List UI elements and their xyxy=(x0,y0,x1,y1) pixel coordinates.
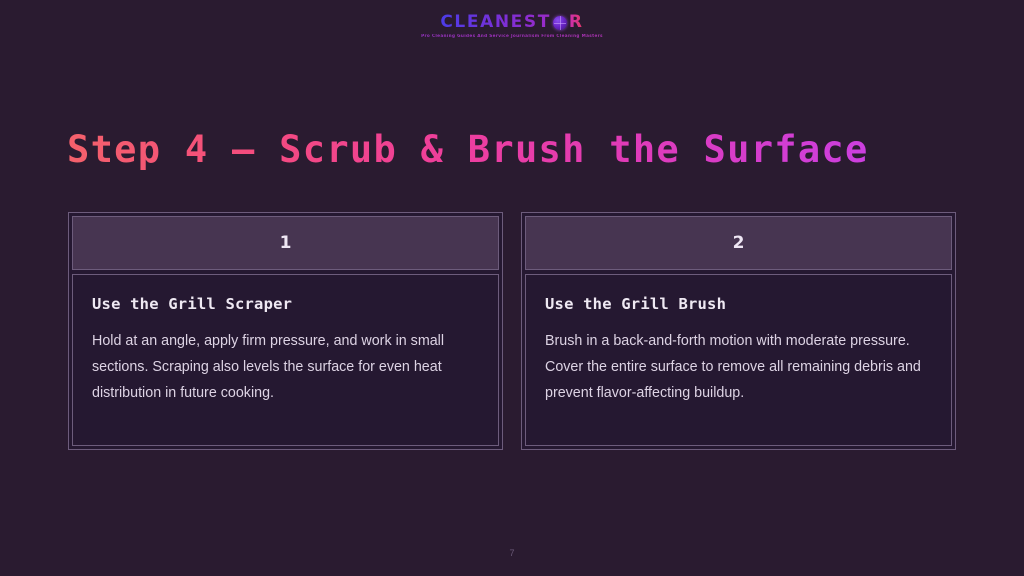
brand-wordmark: CLEANEST R xyxy=(440,14,583,31)
card-list: 1 Use the Grill Scraper Hold at an angle… xyxy=(68,212,956,450)
globe-icon xyxy=(553,16,567,30)
step-card-1-number-badge: 1 xyxy=(72,216,499,270)
step-card-1-body: Use the Grill Scraper Hold at an angle, … xyxy=(72,274,499,446)
brand-tagline: Pro Cleaning Guides And Service Journali… xyxy=(0,34,1024,38)
brand-logo: CLEANEST R Pro Cleaning Guides And Servi… xyxy=(0,14,1024,38)
brand-name-suffix: R xyxy=(569,14,584,31)
page-number: 7 xyxy=(0,548,1024,558)
step-card-2: 2 Use the Grill Brush Brush in a back-an… xyxy=(521,212,956,450)
step-card-2-body: Use the Grill Brush Brush in a back-and-… xyxy=(525,274,952,446)
step-card-2-number-badge: 2 xyxy=(525,216,952,270)
step-card-1: 1 Use the Grill Scraper Hold at an angle… xyxy=(68,212,503,450)
step-card-2-heading: Use the Grill Brush xyxy=(545,295,932,313)
step-card-1-text: Hold at an angle, apply firm pressure, a… xyxy=(92,328,479,406)
brand-name-prefix: CLEANEST xyxy=(440,14,551,31)
page-title: Step 4 — Scrub & Brush the Surface xyxy=(67,128,869,171)
step-card-2-text: Brush in a back-and-forth motion with mo… xyxy=(545,328,932,406)
step-card-1-heading: Use the Grill Scraper xyxy=(92,295,479,313)
